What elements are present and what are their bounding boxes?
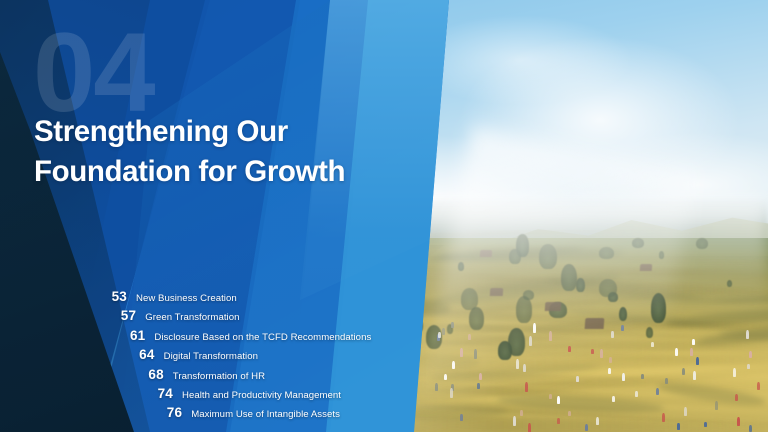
toc-page-number: 68	[145, 367, 164, 382]
toc-entry-label: Health and Productivity Management	[182, 390, 341, 401]
toc-row[interactable]: 68Transformation of HR	[145, 367, 438, 386]
toc-entry-label: Disclosure Based on the TCFD Recommendat…	[154, 332, 371, 343]
toc-page-number: 74	[154, 386, 173, 401]
toc-row[interactable]: 76Maximum Use of Intangible Assets	[163, 405, 438, 424]
toc-entry-label: Transformation of HR	[173, 371, 265, 382]
toc-row[interactable]: 74Health and Productivity Management	[154, 386, 438, 405]
toc-entry-label: New Business Creation	[136, 293, 237, 304]
toc-entry-label: Digital Transformation	[164, 351, 258, 362]
toc-entry-label: Green Transformation	[145, 312, 239, 323]
slide-content: 04 Strengthening Our Foundation for Grow…	[0, 0, 768, 432]
toc-page-number: 64	[136, 347, 155, 362]
toc-row[interactable]: 53New Business Creation	[108, 289, 438, 308]
toc-entry-label: Maximum Use of Intangible Assets	[191, 409, 340, 420]
toc-row[interactable]: 57Green Transformation	[117, 308, 438, 327]
toc-row[interactable]: 64Digital Transformation	[136, 347, 438, 366]
toc-page-number: 53	[108, 289, 127, 304]
toc-page-number: 57	[117, 308, 136, 323]
toc-row[interactable]: 61Disclosure Based on the TCFD Recommend…	[126, 328, 438, 347]
toc-page-number: 76	[163, 405, 182, 420]
table-of-contents: 53New Business Creation57Green Transform…	[108, 289, 438, 425]
toc-page-number: 61	[126, 328, 145, 343]
section-divider-slide: 04 Strengthening Our Foundation for Grow…	[0, 0, 768, 432]
page-title: Strengthening Our Foundation for Growth	[34, 112, 345, 191]
